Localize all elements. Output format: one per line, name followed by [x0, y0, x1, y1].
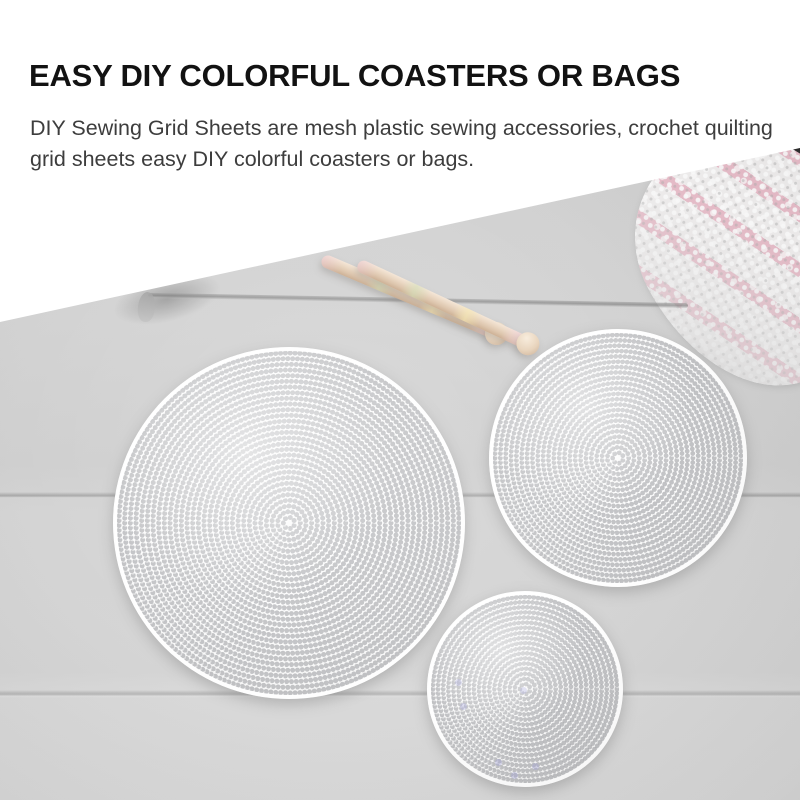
round-plastic-mesh-canvas-medium — [489, 329, 747, 587]
round-plastic-mesh-canvas-small — [427, 591, 623, 787]
mesh-rim — [489, 329, 747, 587]
product-description: DIY Sewing Grid Sheets are mesh plastic … — [30, 113, 778, 174]
round-plastic-mesh-canvas-large — [113, 347, 465, 699]
page-title: EASY DIY COLORFUL COASTERS OR BAGS — [29, 59, 680, 93]
mesh-rim — [427, 591, 623, 787]
product-image: EASY DIY COLORFUL COASTERS OR BAGS DIY S… — [0, 0, 800, 800]
mesh-rim — [113, 347, 465, 699]
